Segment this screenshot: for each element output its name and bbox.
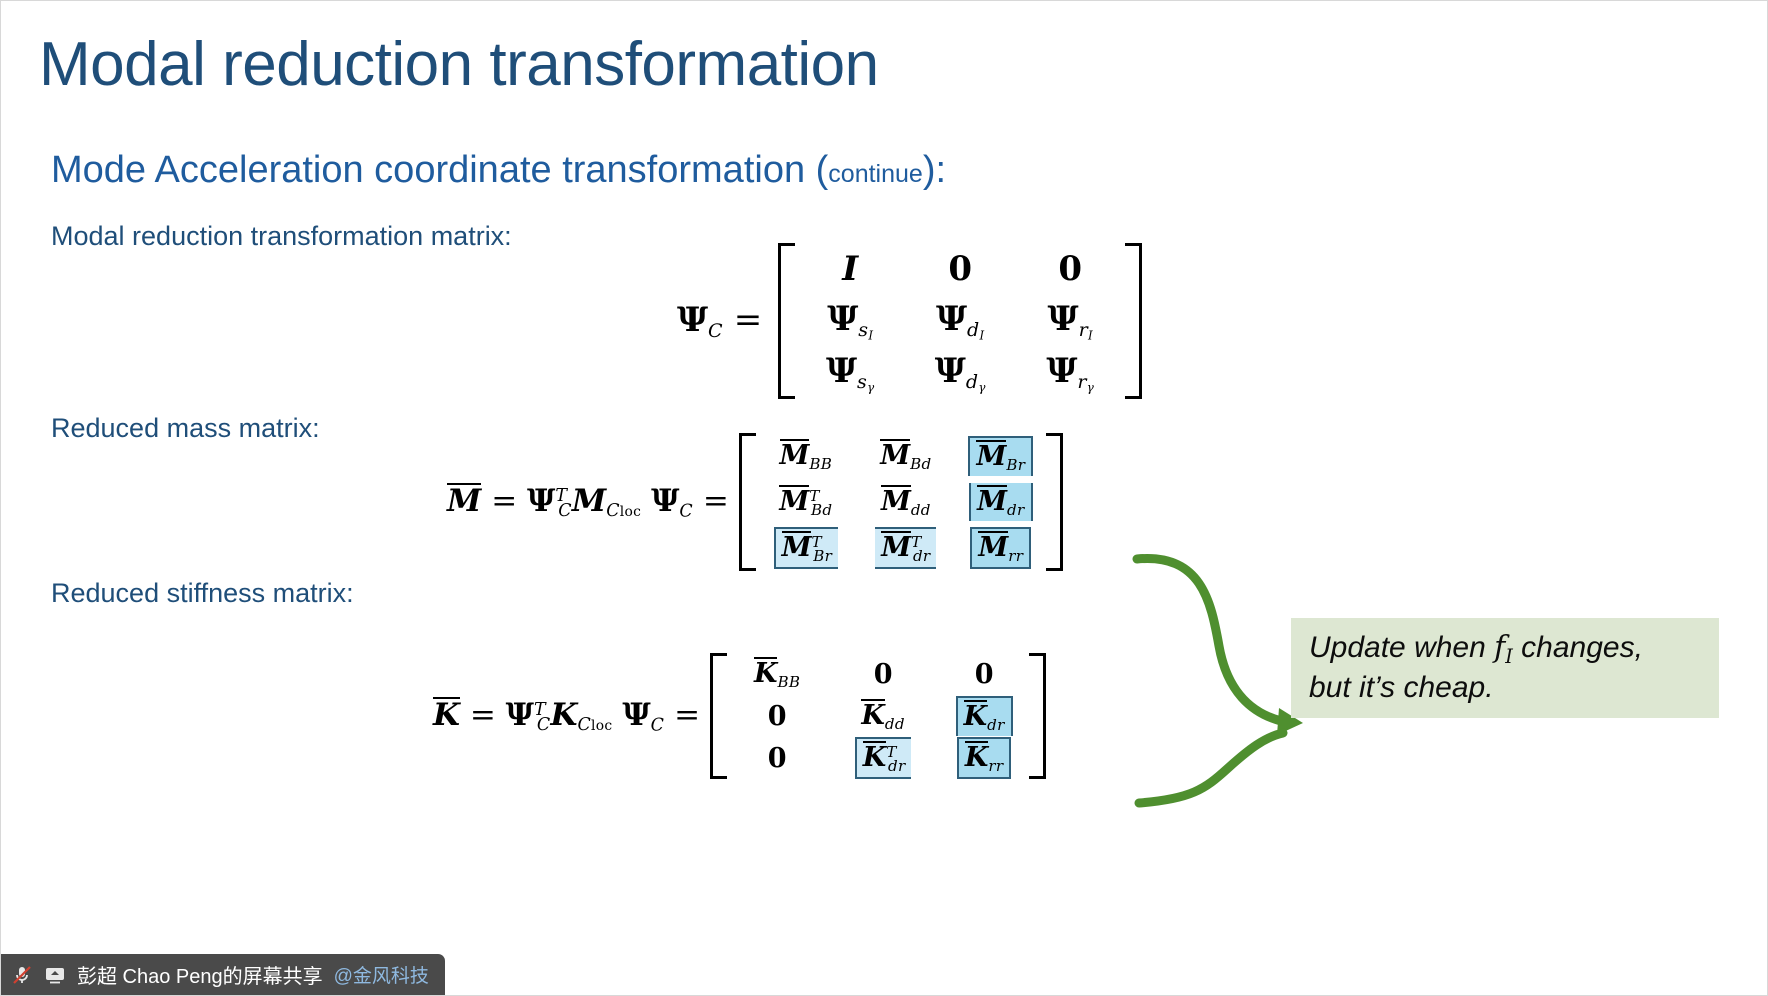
psi-symbol: Ψ	[506, 697, 534, 733]
psi-symbol: Ψ	[677, 300, 708, 340]
k-symbol: K	[550, 697, 577, 733]
matrix-cell: I	[836, 247, 864, 291]
share-handle-text: @金风科技	[334, 961, 429, 988]
psi-matrix-grid: I 0 0 ΨsI ΨdI ΨrI Ψsγ Ψdγ Ψrγ	[795, 243, 1125, 399]
k-bar-symbol: K	[433, 697, 460, 731]
m-symbol: M	[572, 483, 606, 519]
slide-canvas: Modal reduction transformation Mode Acce…	[0, 0, 1768, 996]
psi-symbol: Ψ	[527, 483, 555, 519]
matrix-cell: Ψdγ	[929, 349, 992, 396]
matrix-cell: MBB	[774, 437, 839, 475]
share-status-text: 彭超 Chao Peng的屏幕共享	[77, 960, 323, 989]
matrix-cell: MBd	[874, 437, 937, 475]
page-title: Modal reduction transformation	[39, 29, 879, 100]
matrix-cell: Ψrγ	[1040, 349, 1100, 396]
m-bar-symbol: M	[447, 483, 481, 517]
matrix-cell-highlighted: KTdr	[855, 737, 912, 779]
subtitle-continue-text: continue	[828, 160, 923, 188]
matrix-cell: ΨsI	[821, 297, 879, 344]
bracket-left	[710, 653, 727, 779]
matrix-cell: Kdd	[855, 697, 910, 735]
matrix-cell: 0	[942, 247, 978, 291]
psi-symbol-2: Ψ	[622, 697, 650, 733]
matrix-cell: 0	[868, 657, 899, 692]
psi-lhs: ΨC =	[677, 300, 762, 342]
matrix-cell-highlighted: MTdr	[875, 527, 936, 569]
mass-lhs: M = ΨTCMCloc ΨC =	[447, 483, 729, 522]
matrix-cell: 0	[762, 741, 793, 776]
matrix-cell: 0	[969, 657, 1000, 692]
mic-muted-icon[interactable]	[11, 964, 33, 986]
label-transformation-matrix: Modal reduction transformation matrix:	[51, 221, 512, 252]
stiffness-matrix-grid: KBB 0 0 0 Kdd Kdr 0 KTdr Krr	[727, 653, 1029, 779]
matrix-cell-highlighted: Mdr	[969, 483, 1032, 521]
arrow-from-stiffness-matrix	[1139, 733, 1283, 803]
arrow-from-mass-matrix	[1137, 558, 1281, 721]
slide-subtitle: Mode Acceleration coordinate transformat…	[51, 149, 946, 192]
subtitle-main-text: Mode Acceleration coordinate transformat…	[51, 149, 828, 191]
callout-line1-post: changes,	[1513, 631, 1643, 664]
equals-sign: =	[734, 300, 763, 340]
f-i-variable: fI	[1494, 630, 1513, 665]
equals-sign: =	[491, 483, 517, 519]
matrix-cell-highlighted: Krr	[957, 737, 1012, 779]
psi-symbol-2: Ψ	[651, 483, 679, 519]
mass-matrix: MBB MBd MBr MTBd Mdd Mdr MTBr MTdr Mrr	[739, 433, 1063, 571]
equals-sign: =	[470, 697, 496, 733]
callout-line1-pre: Update when	[1309, 631, 1494, 664]
bracket-right	[1046, 433, 1063, 571]
matrix-cell: ΨrI	[1042, 297, 1099, 344]
matrix-cell: ΨdI	[930, 297, 991, 344]
label-reduced-stiffness-matrix: Reduced stiffness matrix:	[51, 578, 354, 609]
matrix-cell: KBB	[748, 655, 806, 693]
screen-share-bar[interactable]: 彭超 Chao Peng的屏幕共享 @金风科技	[1, 954, 445, 995]
matrix-cell: 0	[762, 699, 793, 734]
mass-matrix-grid: MBB MBd MBr MTBd Mdd Mdr MTBr MTdr Mrr	[756, 433, 1046, 571]
subtitle-close-text: ):	[923, 149, 946, 191]
stiffness-matrix: KBB 0 0 0 Kdd Kdr 0 KTdr Krr	[710, 653, 1046, 779]
psi-matrix: I 0 0 ΨsI ΨdI ΨrI Ψsγ Ψdγ Ψrγ	[778, 243, 1142, 399]
matrix-cell-highlighted: MTBr	[774, 527, 839, 569]
matrix-cell: MTBd	[773, 483, 838, 521]
equals-sign-2: =	[703, 483, 729, 519]
equation-reduced-stiffness: K = ΨTCKCloc ΨC = KBB 0 0 0 Kdd Kdr 0 KT…	[433, 653, 1046, 779]
callout-line-1: Update when fI changes,	[1309, 629, 1719, 669]
screen-share-icon[interactable]	[44, 964, 66, 986]
bracket-right	[1125, 243, 1142, 399]
matrix-cell: 0	[1052, 247, 1088, 291]
callout-box: Update when fI changes, but it’s cheap.	[1291, 618, 1719, 718]
bracket-left	[778, 243, 795, 399]
bracket-right	[1029, 653, 1046, 779]
matrix-cell-highlighted: MBr	[968, 436, 1033, 476]
label-reduced-mass-matrix: Reduced mass matrix:	[51, 413, 320, 444]
equals-sign-2: =	[674, 697, 700, 733]
callout-line-2: but it’s cheap.	[1309, 669, 1719, 707]
matrix-cell: Mdd	[875, 483, 937, 521]
matrix-cell-highlighted: Kdr	[956, 696, 1013, 736]
psi-subscript: C	[708, 320, 723, 342]
bracket-left	[739, 433, 756, 571]
stiffness-lhs: K = ΨTCKCloc ΨC =	[433, 697, 700, 736]
matrix-cell: Ψsγ	[820, 349, 880, 396]
equation-psi-c: ΨC = I 0 0 ΨsI ΨdI ΨrI Ψsγ Ψdγ Ψrγ	[677, 243, 1142, 399]
equation-reduced-mass: M = ΨTCMCloc ΨC = MBB MBd MBr MTBd Mdd M…	[447, 433, 1063, 571]
matrix-cell-highlighted: Mrr	[970, 527, 1031, 569]
